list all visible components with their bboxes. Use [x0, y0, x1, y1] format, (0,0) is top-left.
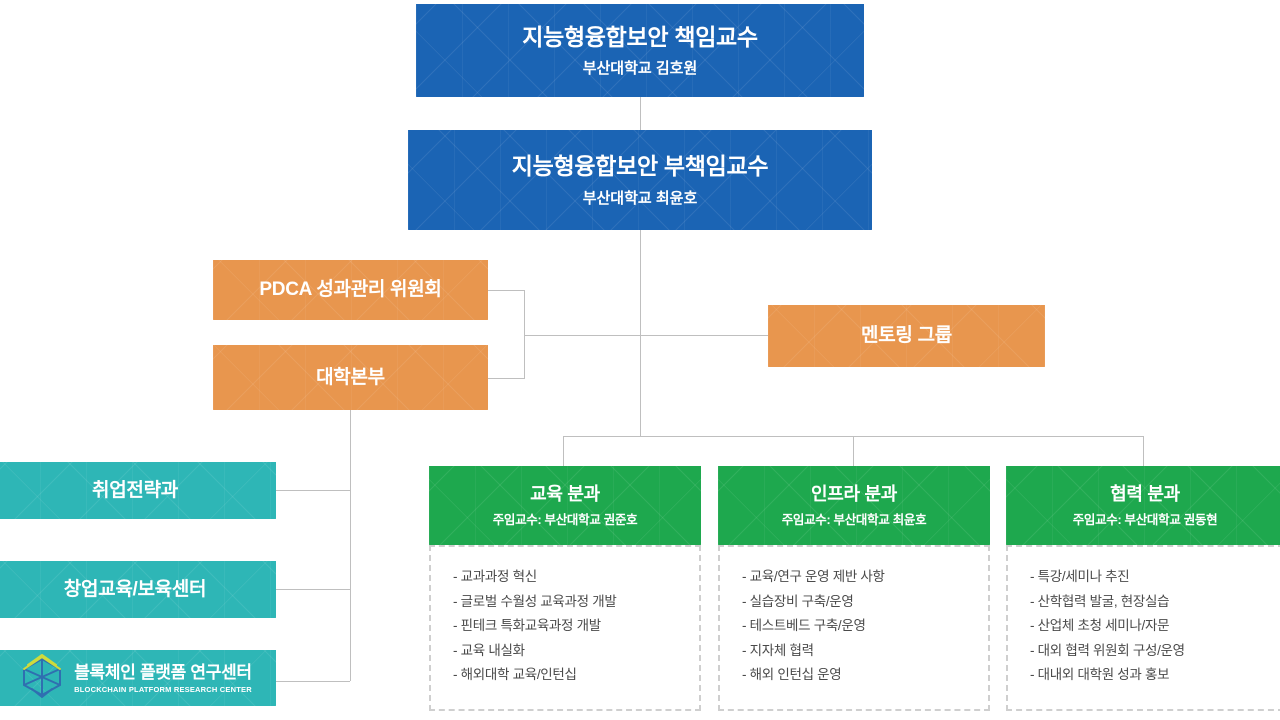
- pdca-committee-box[interactable]: PDCA 성과관리 위원회: [213, 260, 488, 320]
- list-item: - 교육/연구 운영 제반 사항: [742, 565, 988, 590]
- university-headquarters-label: 대학본부: [316, 366, 385, 390]
- university-headquarters-box[interactable]: 대학본부: [213, 345, 488, 410]
- connector-vice-spine: [640, 230, 641, 437]
- list-item: - 테스트베드 구축/운영: [742, 614, 988, 639]
- list-item: - 교육 내실화: [453, 639, 699, 664]
- connector-partner-1: [276, 490, 350, 491]
- division-header-education[interactable]: 교육 분과 주임교수: 부산대학교 권준호: [429, 466, 701, 545]
- startup-education-center-box[interactable]: 창업교육/보육센터: [0, 561, 276, 618]
- connector-partner-3: [276, 681, 350, 682]
- employment-strategy-dept-box[interactable]: 취업전략과: [0, 462, 276, 519]
- vice-chief-professor-title: 지능형융합보안 부책임교수: [512, 152, 768, 181]
- blockchain-research-center-label: 블록체인 플랫폼 연구센터: [74, 662, 252, 683]
- employment-strategy-dept-label: 취업전략과: [92, 479, 178, 503]
- list-item: - 교과과정 혁신: [453, 565, 699, 590]
- list-item: - 산학협력 발굴, 현장실습: [1030, 590, 1280, 615]
- division-column-infrastructure: 인프라 분과 주임교수: 부산대학교 최윤호 - 교육/연구 운영 제반 사항 …: [718, 466, 990, 711]
- vice-chief-professor-box[interactable]: 지능형융합보안 부책임교수 부산대학교 최윤호: [408, 130, 872, 230]
- connector-crossbar-mentoring: [524, 335, 768, 336]
- list-item: - 특강/세미나 추진: [1030, 565, 1280, 590]
- blockchain-research-center-sublabel: BLOCKCHAIN PLATFORM RESEARCH CENTER: [74, 685, 252, 694]
- connector-hq-down: [350, 410, 351, 681]
- division-title-cooperation: 협력 분과: [1110, 483, 1180, 506]
- list-item: - 글로벌 수월성 교육과정 개발: [453, 590, 699, 615]
- division-tasks-cooperation: - 특강/세미나 추진 - 산학협력 발굴, 현장실습 - 산업체 초청 세미나…: [1006, 545, 1280, 711]
- list-item: - 실습장비 구축/운영: [742, 590, 988, 615]
- connector-division-drop-2: [853, 436, 854, 466]
- division-lead-infrastructure: 주임교수: 부산대학교 최윤호: [782, 512, 927, 528]
- blockchain-research-center-box[interactable]: 블록체인 플랫폼 연구센터 BLOCKCHAIN PLATFORM RESEAR…: [0, 650, 276, 706]
- connector-pdca-stub: [488, 290, 524, 291]
- chief-professor-person: 부산대학교 김호원: [583, 59, 698, 79]
- connector-partner-2: [276, 589, 350, 590]
- connector-division-drop-1: [563, 436, 564, 466]
- division-lead-cooperation: 주임교수: 부산대학교 권동현: [1073, 512, 1218, 528]
- connector-hq-stub: [488, 378, 524, 379]
- list-item: - 해외대학 교육/인턴십: [453, 663, 699, 688]
- list-item: - 대내외 대학원 성과 홍보: [1030, 663, 1280, 688]
- mentoring-group-label: 멘토링 그룹: [861, 324, 952, 348]
- org-chart: 지능형융합보안 책임교수 부산대학교 김호원 지능형융합보안 부책임교수 부산대…: [0, 0, 1280, 720]
- list-item: - 핀테크 특화교육과정 개발: [453, 614, 699, 639]
- division-title-infrastructure: 인프라 분과: [811, 483, 897, 506]
- list-item: - 지자체 협력: [742, 639, 988, 664]
- list-item: - 대외 협력 위원회 구성/운영: [1030, 639, 1280, 664]
- chief-professor-box[interactable]: 지능형융합보안 책임교수 부산대학교 김호원: [416, 4, 864, 97]
- division-column-cooperation: 협력 분과 주임교수: 부산대학교 권동현 - 특강/세미나 추진 - 산학협력…: [1006, 466, 1280, 711]
- list-item: - 산업체 초청 세미나/자문: [1030, 614, 1280, 639]
- pdca-committee-label: PDCA 성과관리 위원회: [259, 278, 441, 302]
- connector-chief-to-vice: [640, 97, 641, 130]
- division-lead-education: 주임교수: 부산대학교 권준호: [493, 512, 638, 528]
- chief-professor-title: 지능형융합보안 책임교수: [522, 23, 758, 52]
- division-header-infrastructure[interactable]: 인프라 분과 주임교수: 부산대학교 최윤호: [718, 466, 990, 545]
- list-item: - 해외 인턴십 운영: [742, 663, 988, 688]
- division-header-cooperation[interactable]: 협력 분과 주임교수: 부산대학교 권동현: [1006, 466, 1280, 545]
- division-column-education: 교육 분과 주임교수: 부산대학교 권준호 - 교과과정 혁신 - 글로벌 수월…: [429, 466, 701, 711]
- blockchain-cube-icon: [18, 653, 66, 704]
- startup-education-center-label: 창업교육/보육센터: [64, 578, 206, 602]
- division-tasks-infrastructure: - 교육/연구 운영 제반 사항 - 실습장비 구축/운영 - 테스트베드 구축…: [718, 545, 990, 711]
- connector-division-drop-3: [1143, 436, 1144, 466]
- division-tasks-education: - 교과과정 혁신 - 글로벌 수월성 교육과정 개발 - 핀테크 특화교육과정…: [429, 545, 701, 711]
- vice-chief-professor-person: 부산대학교 최윤호: [583, 189, 698, 209]
- mentoring-group-box[interactable]: 멘토링 그룹: [768, 305, 1045, 367]
- division-title-education: 교육 분과: [530, 483, 600, 506]
